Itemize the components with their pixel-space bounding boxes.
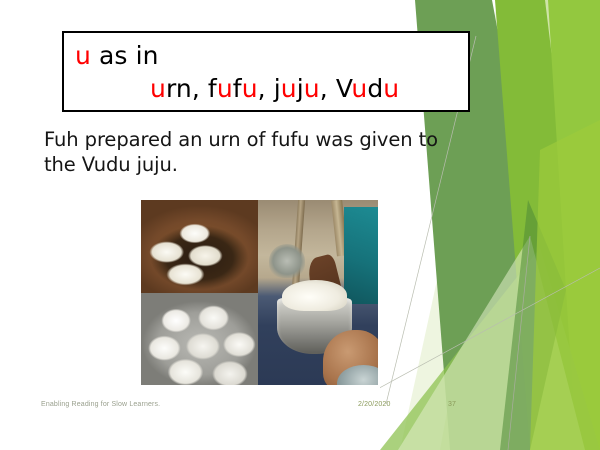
title-line-2-segment-5: , j — [258, 74, 281, 103]
footer-note: Enabling Reading for Slow Learners. — [41, 401, 160, 408]
photo-collage-right-column — [258, 200, 378, 385]
title-line-2: urn, fufu, juju, Vudu — [150, 76, 399, 101]
presentation-slide: u as in urn, fufu, juju, Vudu Fuh prepar… — [0, 0, 600, 450]
title-line-2-segment-10: u — [351, 74, 367, 103]
title-text-box: u as in urn, fufu, juju, Vudu — [62, 31, 470, 112]
decor-shape-overlay-pale — [398, 236, 585, 450]
title-line-1-segment-1: as in — [91, 41, 159, 70]
title-line-2-segment-8: u — [304, 74, 320, 103]
title-line-2-segment-12: u — [383, 74, 399, 103]
photo-collage-left-column — [141, 200, 258, 385]
decor-line-diagonal-3 — [508, 236, 530, 450]
title-line-2-segment-2: u — [217, 74, 233, 103]
photo-detail-fufu-dough — [282, 280, 347, 311]
title-line-2-segment-3: f — [233, 74, 242, 103]
decor-line-diagonal-2 — [380, 268, 600, 392]
title-line-2-segment-7: j — [297, 74, 304, 103]
body-sentence: Fuh prepared an urn of fufu was given to… — [44, 128, 464, 178]
title-line-2-segment-0: u — [150, 74, 166, 103]
slide-footer: Enabling Reading for Slow Learners. 2/20… — [0, 401, 600, 417]
photo-pounding-fufu-outdoors — [258, 200, 378, 385]
photo-detail-teal-garment — [344, 207, 378, 303]
photo-wooden-bowl-of-fufu — [141, 200, 258, 293]
decor-shape-overlay-lower — [380, 248, 600, 450]
decor-shape-right-green — [548, 0, 600, 450]
decor-shape-bright-green — [495, 0, 600, 450]
photo-detail-foliage — [269, 244, 305, 277]
title-line-1-segment-0: u — [75, 41, 91, 70]
footer-date: 2/20/2020 — [358, 401, 391, 408]
title-line-2-segment-11: d — [367, 74, 383, 103]
title-line-2-segment-1: rn, f — [166, 74, 217, 103]
photo-metal-pot-of-fufu — [141, 293, 258, 385]
title-line-1: u as in — [75, 43, 159, 68]
title-line-2-segment-6: u — [281, 74, 297, 103]
title-line-2-segment-9: , V — [320, 74, 352, 103]
title-line-2-segment-4: u — [242, 74, 258, 103]
footer-slide-number: 37 — [448, 401, 456, 408]
photo-collage — [141, 200, 378, 385]
